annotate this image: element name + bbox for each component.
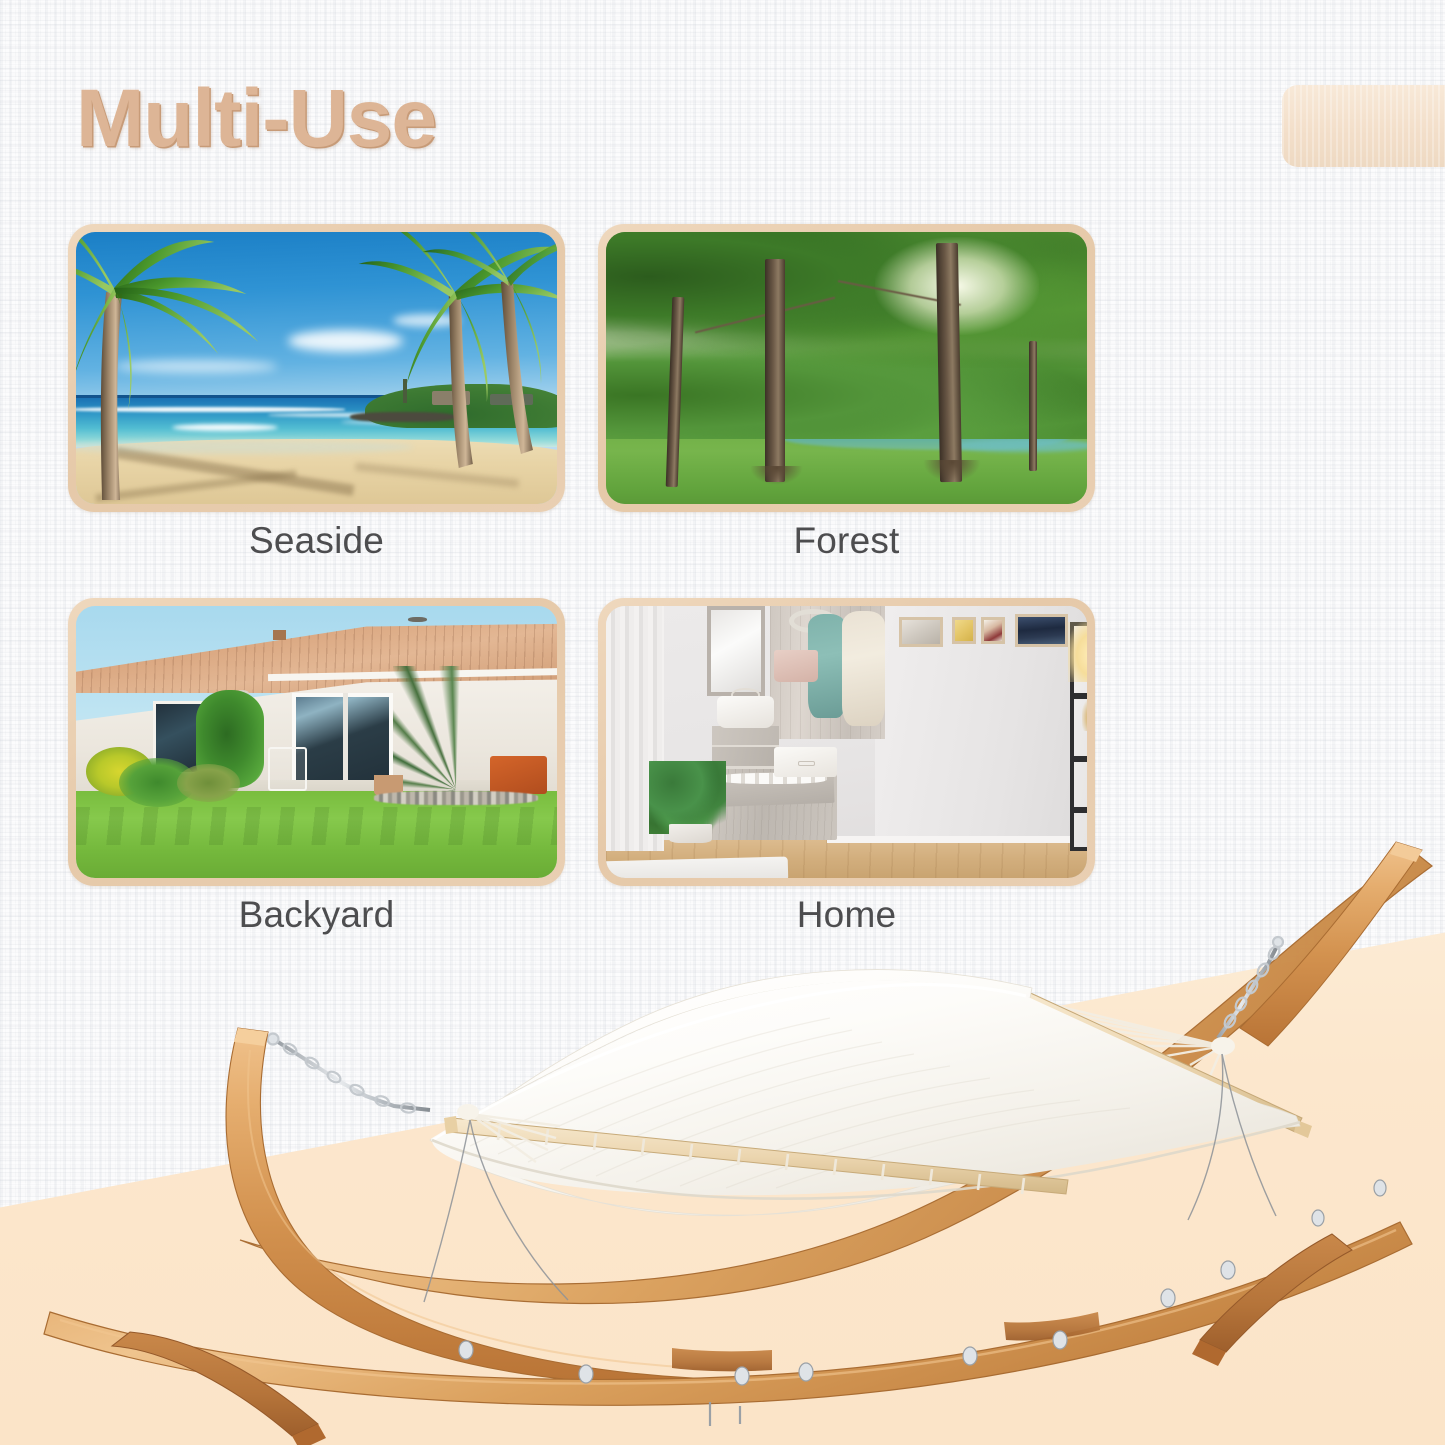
box-handle	[798, 761, 815, 766]
shelf-board	[1070, 693, 1087, 699]
rope-gather-left	[457, 1104, 479, 1120]
left-chain	[278, 1042, 430, 1110]
framed-art	[952, 617, 976, 644]
rock-border	[374, 791, 538, 805]
framed-art	[1015, 614, 1068, 647]
white-handbag	[717, 696, 775, 729]
scene-card-seaside[interactable]: Seaside	[68, 224, 565, 562]
photo-frame-seaside	[68, 224, 565, 512]
tree-root	[923, 460, 981, 482]
tree-trunk	[1029, 341, 1037, 472]
rope-gather-right	[1211, 1037, 1235, 1055]
roof-vent	[408, 617, 427, 622]
yucca-plant	[393, 666, 518, 797]
door-frame-bar	[343, 693, 348, 788]
palm-trees	[76, 232, 557, 504]
garden-chair	[268, 747, 306, 791]
dried-grass-decor	[1082, 698, 1087, 731]
wooden-arc-hammock-stand	[0, 820, 1445, 1445]
tree-trunk	[936, 243, 962, 483]
chimney	[273, 630, 286, 640]
framed-art	[981, 617, 1005, 644]
shelf-board	[1070, 807, 1087, 813]
product-scene	[0, 820, 1445, 1445]
scene-label-forest: Forest	[598, 520, 1095, 562]
scene-card-forest[interactable]: Forest	[598, 224, 1095, 562]
hanging-handbag	[774, 650, 817, 683]
tree-trunk	[765, 259, 785, 482]
floor-lamp-glow	[1068, 622, 1087, 682]
framed-art	[899, 617, 942, 647]
green-shrub	[177, 764, 240, 802]
left-chain-links	[268, 1034, 416, 1114]
hammock-canvas	[430, 967, 1300, 1223]
hanging-coat	[842, 611, 885, 725]
tropical-beach-photo	[76, 232, 557, 504]
photo-frame-forest	[598, 224, 1095, 512]
scene-row-1: Seaside	[68, 224, 1088, 562]
page-title: Multi-Use	[76, 72, 436, 166]
wall-mirror	[707, 606, 765, 696]
brand-plate	[1282, 85, 1445, 167]
tree-root	[750, 466, 803, 485]
scene-label-seaside: Seaside	[68, 520, 565, 562]
ground-pegs	[710, 1402, 740, 1426]
forest-park-photo	[606, 232, 1087, 504]
shelf-board	[1070, 756, 1087, 762]
right-arc-tip	[1240, 842, 1422, 1046]
